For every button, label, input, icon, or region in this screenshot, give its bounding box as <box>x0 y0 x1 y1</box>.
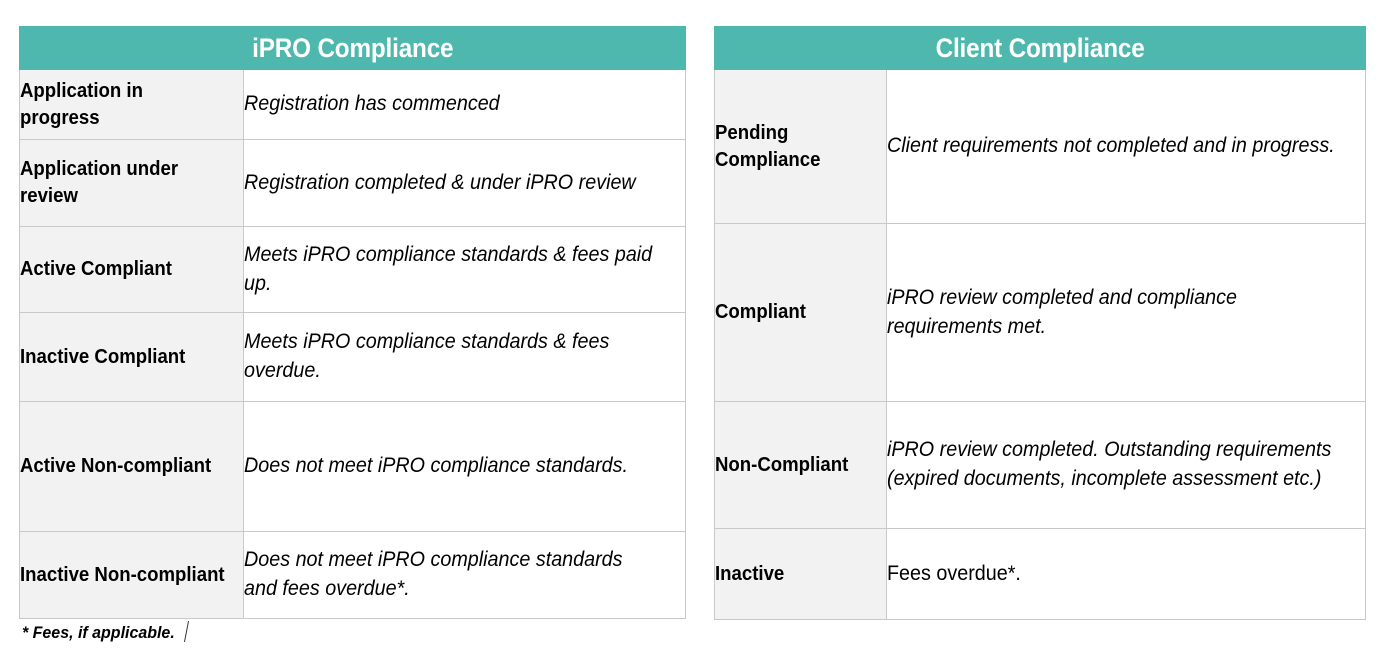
table-row: Active Non-compliant Does not meet iPRO … <box>20 402 686 532</box>
status-description-text: Client requirements not completed and in… <box>887 132 1335 161</box>
ipro-compliance-table: iPRO Compliance Application in progress … <box>19 26 686 619</box>
status-label-cell: Non-Compliant <box>715 402 887 529</box>
table-row: Non-Compliant iPRO review completed. Out… <box>715 402 1366 529</box>
document-page: iPRO Compliance Application in progress … <box>0 0 1397 669</box>
status-description-cell: Meets iPRO compliance standards & fees p… <box>244 227 686 313</box>
status-label-cell: Pending Compliance <box>715 70 887 224</box>
client-table-header-row: Client Compliance <box>715 27 1366 70</box>
ipro-table-header-row: iPRO Compliance <box>20 27 686 70</box>
status-description-cell: Does not meet iPRO compliance standards … <box>244 532 686 619</box>
status-description-cell: Does not meet iPRO compliance standards. <box>244 402 686 532</box>
status-label-text: Application in progress <box>20 78 227 131</box>
status-description-cell: Client requirements not completed and in… <box>887 70 1366 224</box>
status-description-cell: iPRO review completed and compliance req… <box>887 224 1366 402</box>
status-label-text: Inactive Compliant <box>20 344 185 371</box>
status-description-cell: Registration completed & under iPRO revi… <box>244 140 686 227</box>
ipro-table-title-text: iPRO Compliance <box>252 33 453 64</box>
status-label-cell: Application under review <box>20 140 244 227</box>
ipro-table-title: iPRO Compliance <box>20 27 686 70</box>
status-label-text: Inactive <box>715 561 784 588</box>
status-description-text: iPRO review completed. Outstanding requi… <box>887 436 1336 494</box>
status-description-text: Does not meet iPRO compliance standards. <box>244 452 628 481</box>
table-row: Application in progress Registration has… <box>20 70 686 140</box>
status-description-cell: Meets iPRO compliance standards & fees o… <box>244 313 686 402</box>
status-label-cell: Inactive <box>715 529 887 620</box>
table-row: Inactive Compliant Meets iPRO compliance… <box>20 313 686 402</box>
footnote-text: * Fees, if applicable. <box>22 623 175 643</box>
status-description-text: Fees overdue*. <box>887 560 1021 589</box>
status-label-cell: Compliant <box>715 224 887 402</box>
status-label-text: Pending Compliance <box>715 120 874 173</box>
status-description-text: Meets iPRO compliance standards & fees o… <box>244 328 659 386</box>
status-description-text: Registration completed & under iPRO revi… <box>244 169 636 198</box>
table-row: Compliant iPRO review completed and comp… <box>715 224 1366 402</box>
status-label-cell: Inactive Compliant <box>20 313 244 402</box>
client-table-title-text: Client Compliance <box>936 33 1145 64</box>
status-label-cell: Application in progress <box>20 70 244 140</box>
status-description-text: Does not meet iPRO compliance standards … <box>244 546 659 604</box>
status-description-text: iPRO review completed and compliance req… <box>887 284 1336 342</box>
table-row: Pending Compliance Client requirements n… <box>715 70 1366 224</box>
status-description-cell: Fees overdue*. <box>887 529 1366 620</box>
client-compliance-table: Client Compliance Pending Compliance Cli… <box>714 26 1366 620</box>
status-label-text: Non-Compliant <box>715 452 848 479</box>
status-label-cell: Active Non-compliant <box>20 402 244 532</box>
status-description-text: Meets iPRO compliance standards & fees p… <box>244 241 659 299</box>
status-label-text: Active Compliant <box>20 256 172 283</box>
table-row: Inactive Non-compliant Does not meet iPR… <box>20 532 686 619</box>
table-row: Application under review Registration co… <box>20 140 686 227</box>
status-label-cell: Active Compliant <box>20 227 244 313</box>
table-row: Active Compliant Meets iPRO compliance s… <box>20 227 686 313</box>
status-description-cell: iPRO review completed. Outstanding requi… <box>887 402 1366 529</box>
status-label-text: Application under review <box>20 156 227 209</box>
status-description-cell: Registration has commenced <box>244 70 686 140</box>
status-description-text: Registration has commenced <box>244 90 500 119</box>
footnote: * Fees, if applicable. <box>22 621 187 643</box>
status-label-text: Compliant <box>715 299 806 326</box>
client-table-title: Client Compliance <box>715 27 1366 70</box>
status-label-cell: Inactive Non-compliant <box>20 532 244 619</box>
table-row: Inactive Fees overdue*. <box>715 529 1366 620</box>
status-label-text: Active Non-compliant <box>20 453 211 480</box>
status-label-text: Inactive Non-compliant <box>20 562 225 589</box>
text-cursor-caret <box>183 621 188 642</box>
